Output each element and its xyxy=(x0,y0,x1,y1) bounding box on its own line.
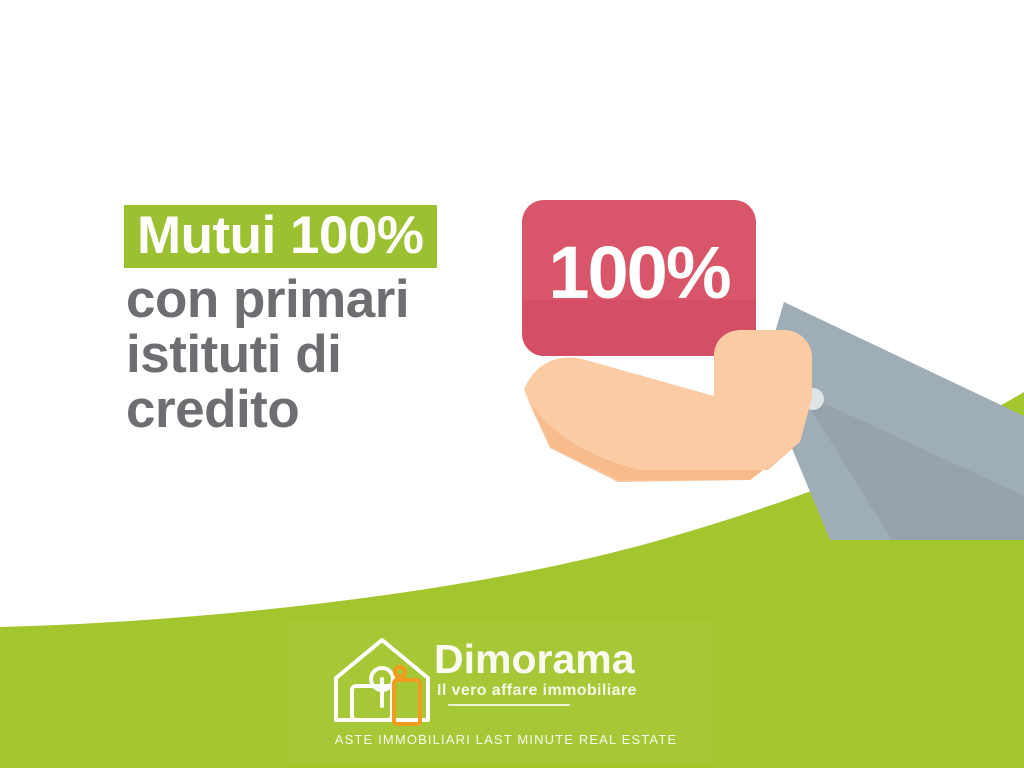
logo[interactable]: Dimorama Il vero affare immobiliare ASTE… xyxy=(330,632,680,752)
thumb-shape xyxy=(714,330,812,376)
hand-illustration: 100% xyxy=(500,180,1024,540)
card-percent-label: 100% xyxy=(548,231,729,314)
headline-line-1: con primari xyxy=(124,273,484,327)
logo-text-block: Dimorama Il vero affare immobiliare xyxy=(434,638,680,706)
orange-accent-dot xyxy=(395,667,405,677)
headline-lines: con primari istituti di credito xyxy=(124,273,484,437)
house-with-keyhole-icon xyxy=(330,634,434,726)
headline-line-2: istituti di xyxy=(124,328,484,382)
percent-card: 100% xyxy=(522,200,756,356)
logo-name: Dimorama xyxy=(434,638,680,680)
orange-accent-shape xyxy=(394,680,420,724)
logo-tagline: Il vero affare immobiliare xyxy=(437,682,680,700)
logo-subtitle: ASTE IMMOBILIARI LAST MINUTE REAL ESTATE xyxy=(324,732,688,747)
headline-highlight: Mutui 100% xyxy=(124,205,437,268)
headline-block: Mutui 100% con primari istituti di credi… xyxy=(124,205,484,437)
logo-underline xyxy=(448,704,570,706)
headline-line-3: credito xyxy=(124,383,484,437)
promo-banner: Mutui 100% con primari istituti di credi… xyxy=(0,0,1024,768)
